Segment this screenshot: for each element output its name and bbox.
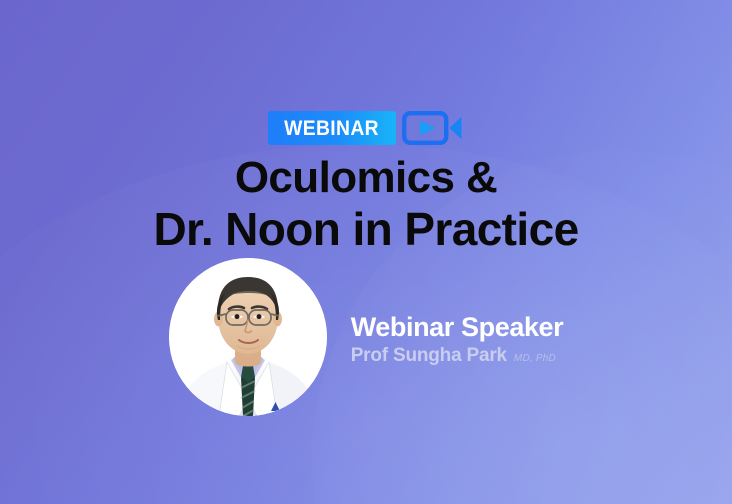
title-line-1: Oculomics &	[0, 152, 732, 203]
video-camera-icon	[402, 110, 464, 146]
speaker-role: Webinar Speaker	[351, 313, 564, 343]
webinar-badge: WEBINAR	[0, 110, 732, 146]
speaker-text: Webinar Speaker Prof Sungha Park MD, PhD	[351, 307, 564, 368]
speaker-name-row: Prof Sungha Park MD, PhD	[351, 345, 564, 367]
speaker-name: Prof Sungha Park	[351, 345, 507, 367]
webinar-badge-wrap: WEBINAR	[268, 110, 464, 146]
speaker-inner: Webinar Speaker Prof Sungha Park MD, PhD	[169, 258, 564, 416]
webinar-banner: WEBINAR Oculomics & Dr. Noon in Practice	[0, 0, 732, 504]
banner-title: Oculomics & Dr. Noon in Practice	[0, 152, 732, 256]
title-line-2: Dr. Noon in Practice	[0, 203, 732, 256]
speaker-block: Webinar Speaker Prof Sungha Park MD, PhD	[0, 258, 732, 416]
webinar-badge-pill: WEBINAR	[268, 111, 396, 145]
speaker-credentials: MD, PhD	[514, 353, 556, 364]
webinar-badge-label: WEBINAR	[284, 118, 379, 139]
speaker-avatar	[169, 258, 327, 416]
